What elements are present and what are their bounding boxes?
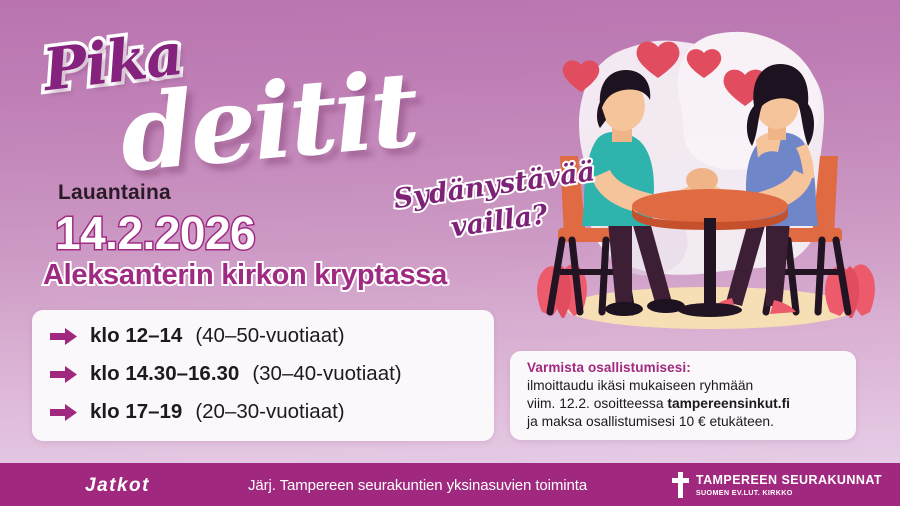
info-line-1: ilmoittaudu ikäsi mukaiseen ryhmään	[527, 378, 753, 393]
footer-left-label: Jatkot	[85, 475, 150, 497]
schedule-time: klo 14.30–16.30	[90, 362, 239, 386]
schedule-row: klo 12–14 (40–50-vuotiaat)	[50, 324, 345, 348]
christian-cross-icon	[672, 472, 689, 498]
schedule-row: klo 14.30–16.30 (30–40-vuotiaat)	[50, 362, 402, 386]
schedule-card: klo 12–14 (40–50-vuotiaat) klo 14.30–16.…	[32, 310, 494, 441]
arrow-right-icon	[50, 366, 77, 383]
schedule-ages: (30–40-vuotiaat)	[252, 362, 401, 386]
logo-primary-text: TAMPEREEN SEURAKUNNAT	[696, 474, 882, 487]
info-line-3: ja maksa osallistumisesi 10 € etukäteen.	[527, 414, 774, 429]
schedule-row: klo 17–19 (20–30-vuotiaat)	[50, 400, 345, 424]
arrow-right-icon	[50, 404, 77, 421]
schedule-ages: (40–50-vuotiaat)	[195, 324, 344, 348]
registration-info-card: Varmista osallistumisesi: ilmoittaudu ik…	[510, 351, 856, 440]
logo-secondary-text: SUOMEN EV.LUT. KIRKKO	[696, 489, 882, 496]
poster-canvas: Pika deitit Sydänystävää vailla? Lauanta…	[0, 0, 900, 506]
schedule-time: klo 17–19	[90, 400, 182, 424]
footer-organizer-text: Järj. Tampereen seurakuntien yksinasuvie…	[248, 477, 587, 494]
info-title: Varmista osallistumisesi:	[527, 360, 691, 375]
footer-bar: Jatkot Järj. Tampereen seurakuntien yksi…	[0, 463, 900, 506]
schedule-time: klo 12–14	[90, 324, 182, 348]
registration-url[interactable]: tampereensinkut.fi	[667, 396, 790, 411]
schedule-ages: (20–30-vuotiaat)	[195, 400, 344, 424]
event-weekday: Lauantaina	[58, 181, 171, 205]
organization-logo: TAMPEREEN SEURAKUNNAT SUOMEN EV.LUT. KIR…	[672, 472, 882, 498]
event-venue: Aleksanterin kirkon kryptassa	[43, 259, 447, 292]
info-line-2-text: viim. 12.2. osoitteessa	[527, 396, 667, 411]
info-line-2: viim. 12.2. osoitteessa tampereensinkut.…	[527, 396, 790, 411]
event-date: 14.2.2026	[55, 206, 255, 260]
arrow-right-icon	[50, 328, 77, 345]
